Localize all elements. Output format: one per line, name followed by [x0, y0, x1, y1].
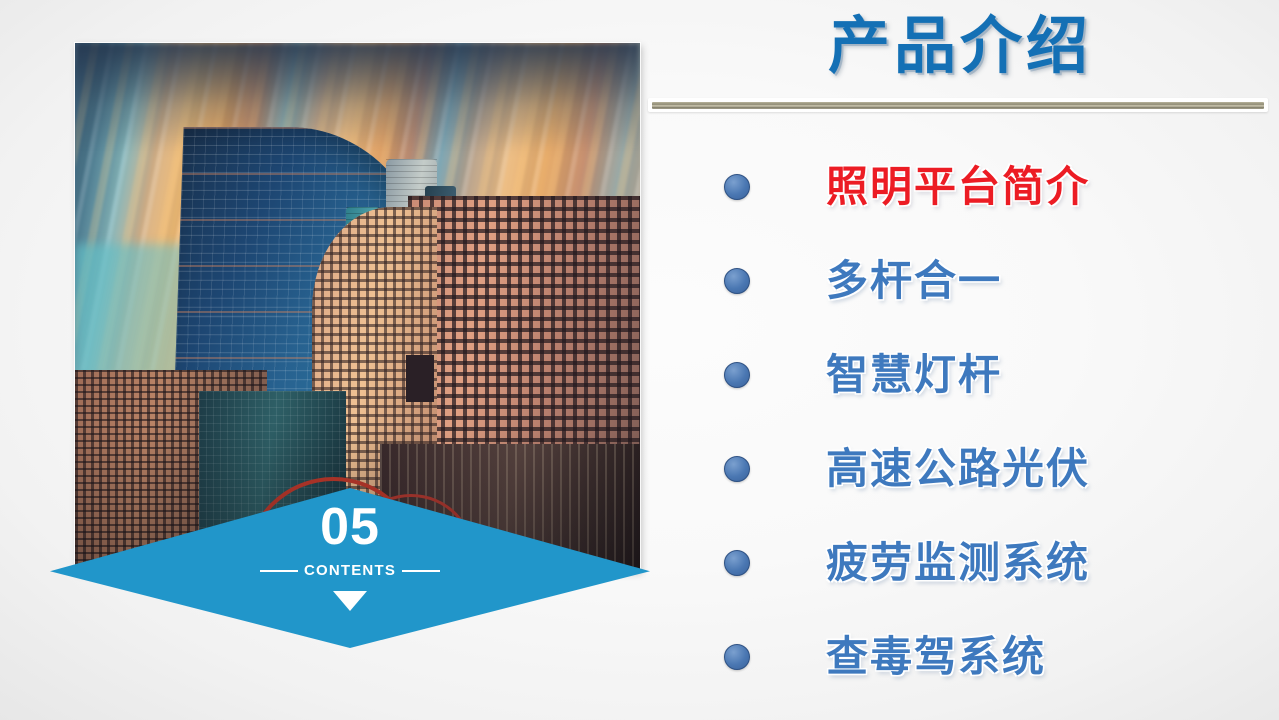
list-item[interactable]: 高速公路光伏	[700, 422, 1260, 516]
contents-list: 照明平台简介 多杆合一 智慧灯杆 高速公路光伏 疲劳监测系统 查毒驾系统	[700, 140, 1260, 704]
list-item[interactable]: 疲劳监测系统	[700, 516, 1260, 610]
title-divider	[648, 98, 1268, 112]
bullet-icon	[724, 644, 750, 670]
divider-inner-bar	[652, 102, 1264, 109]
list-item[interactable]: 智慧灯杆	[700, 328, 1260, 422]
list-item-label: 高速公路光伏	[826, 448, 1090, 490]
list-item[interactable]: 多杆合一	[700, 234, 1260, 328]
bullet-icon	[724, 174, 750, 200]
list-item[interactable]: 查毒驾系统	[700, 610, 1260, 704]
bullet-icon	[724, 268, 750, 294]
bullet-icon	[724, 550, 750, 576]
bullet-icon	[724, 362, 750, 388]
list-item-label: 疲劳监测系统	[826, 542, 1090, 584]
bullet-icon	[724, 456, 750, 482]
page-title: 产品介绍	[645, 8, 1275, 86]
presentation-slide: 05 CONTENTS 产品介绍 照明平台简介 多杆合一 智慧灯杆 高速公路光伏	[0, 0, 1279, 720]
list-item-label: 照明平台简介	[826, 166, 1090, 208]
list-item[interactable]: 照明平台简介	[700, 140, 1260, 234]
list-item-label: 多杆合一	[826, 260, 1002, 302]
slab-notch	[406, 355, 434, 403]
sky-dark-band	[75, 43, 640, 149]
list-item-label: 智慧灯杆	[826, 354, 1002, 396]
list-item-label: 查毒驾系统	[826, 636, 1046, 678]
